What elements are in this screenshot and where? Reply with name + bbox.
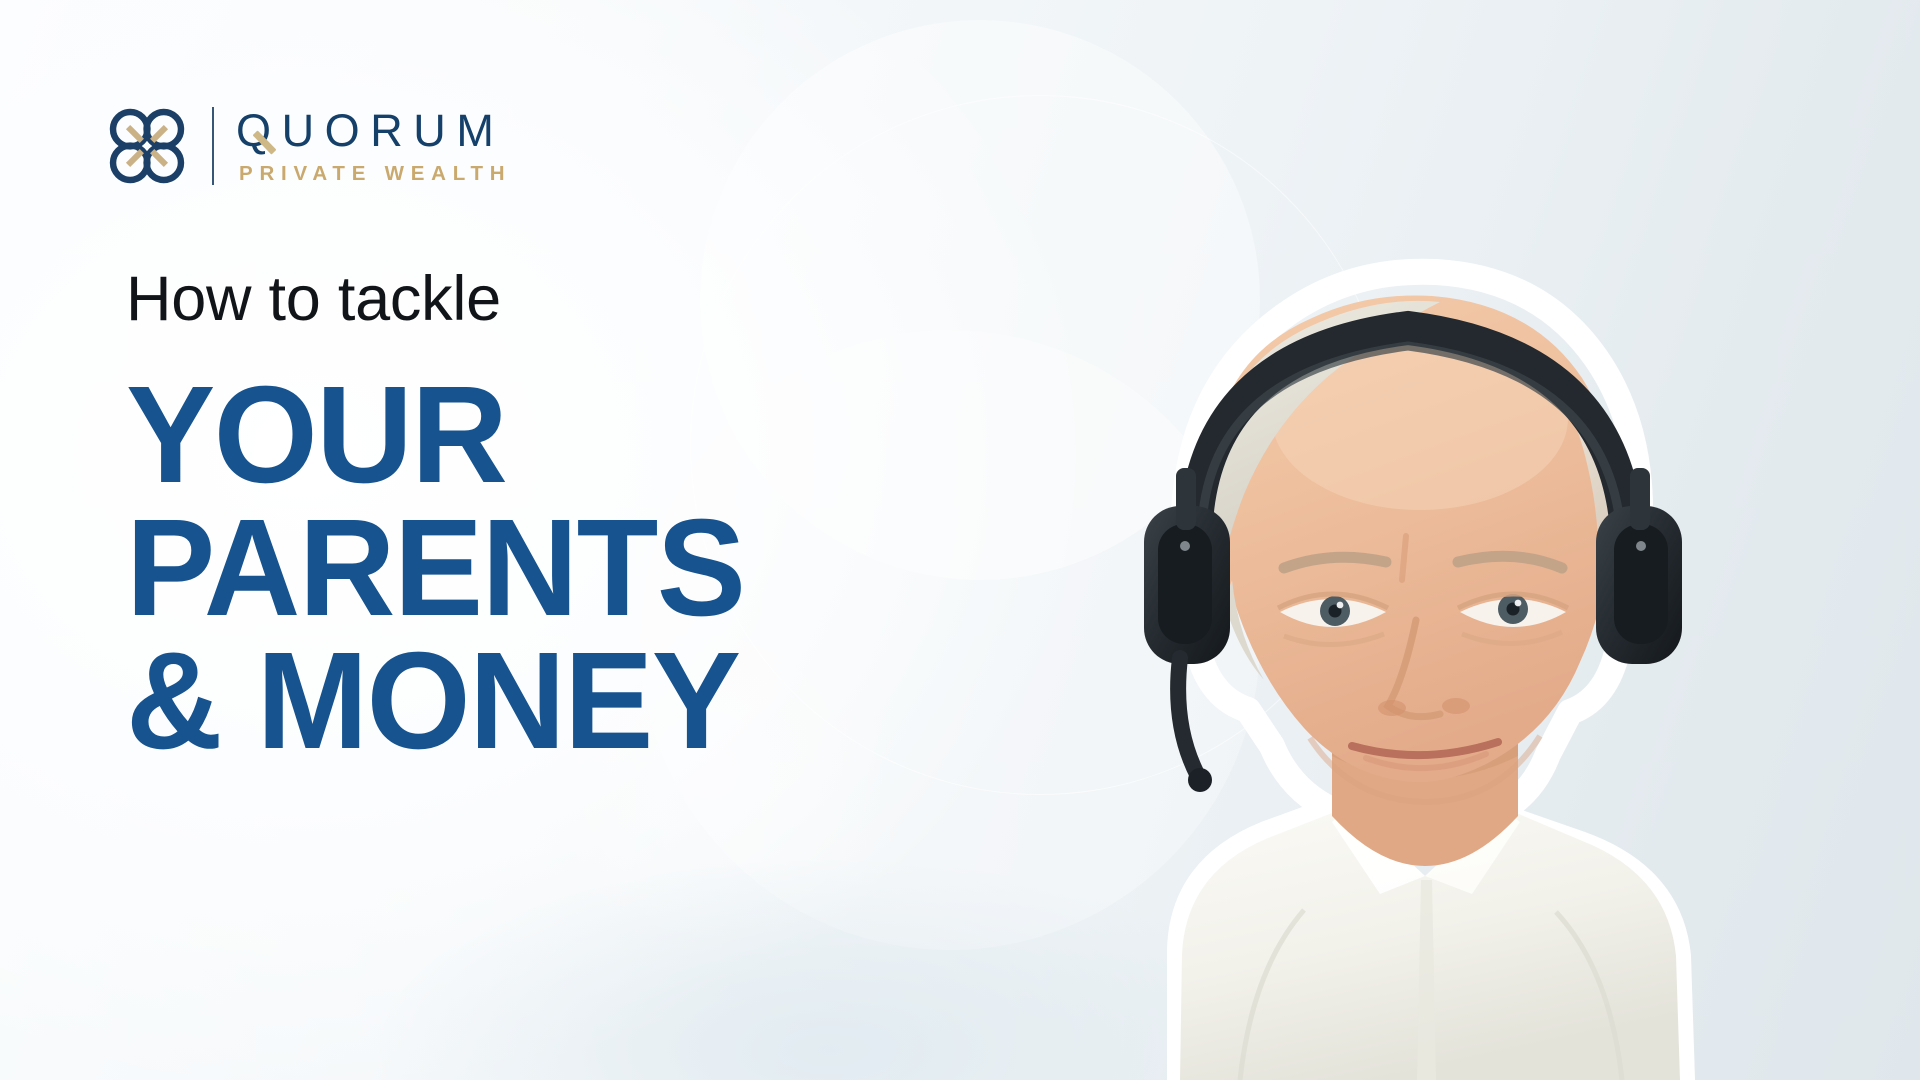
brand-logo-lockup: QUORUM PRIVATE WEALTH: [104, 100, 511, 192]
brand-wordmark: QUORUM: [236, 108, 511, 154]
brand-tagline: PRIVATE WEALTH: [239, 162, 511, 186]
logo-divider: [212, 107, 214, 185]
quatrefoil-logo-mark: [104, 103, 190, 189]
thumbnail-canvas: QUORUM PRIVATE WEALTH How to tackle YOUR…: [0, 0, 1920, 1080]
logo-text-group: QUORUM PRIVATE WEALTH: [236, 106, 511, 187]
presenter-illustration: [880, 150, 1760, 1080]
presenter-photo: [880, 150, 1760, 1080]
brand-wordmark-text: QUORUM: [236, 105, 504, 156]
